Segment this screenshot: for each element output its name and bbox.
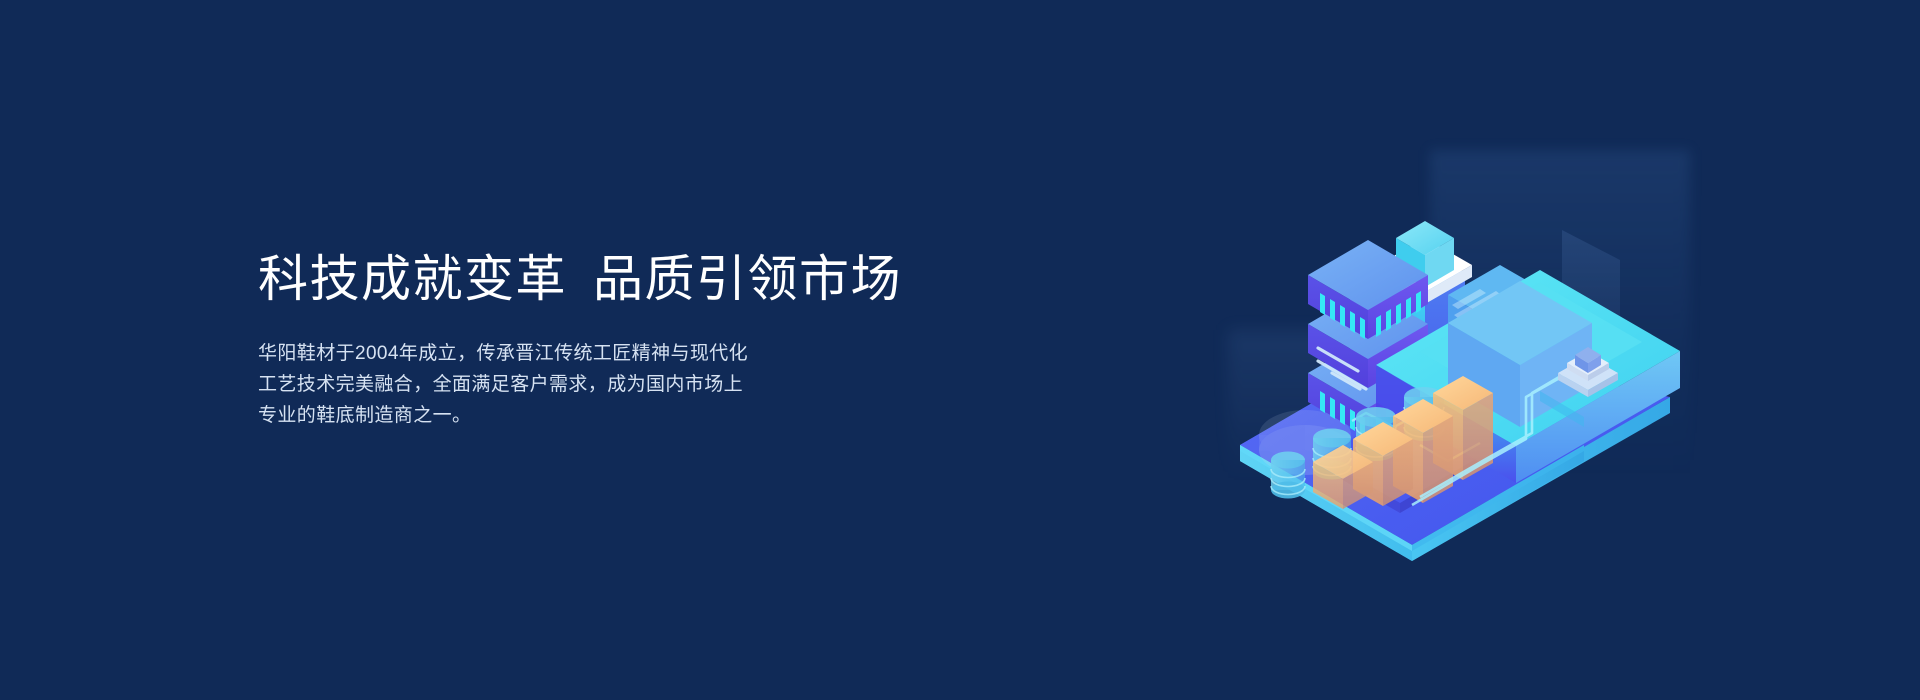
- hero-copy: 科技成就变革品质引领市场 华阳鞋材于2004年成立，传承晋江传统工匠精神与现代化…: [258, 250, 898, 431]
- isometric-factory-illustration: [1180, 105, 1740, 565]
- headline-part-1: 科技成就变革: [258, 251, 567, 307]
- hero-banner: 科技成就变革品质引领市场 华阳鞋材于2004年成立，传承晋江传统工匠精神与现代化…: [0, 0, 1920, 700]
- headline-part-2: 品质引领市场: [593, 251, 902, 307]
- page-title: 科技成就变革品质引领市场: [258, 250, 898, 309]
- description-line-1: 华阳鞋材于2004年成立，传承晋江传统工匠精神与现代化: [258, 338, 778, 369]
- description-line-3: 专业的鞋底制造商之一。: [258, 400, 778, 431]
- description-line-2: 工艺技术完美融合，全面满足客户需求，成为国内市场上: [258, 369, 778, 400]
- hero-description: 华阳鞋材于2004年成立，传承晋江传统工匠精神与现代化 工艺技术完美融合，全面满…: [258, 338, 778, 431]
